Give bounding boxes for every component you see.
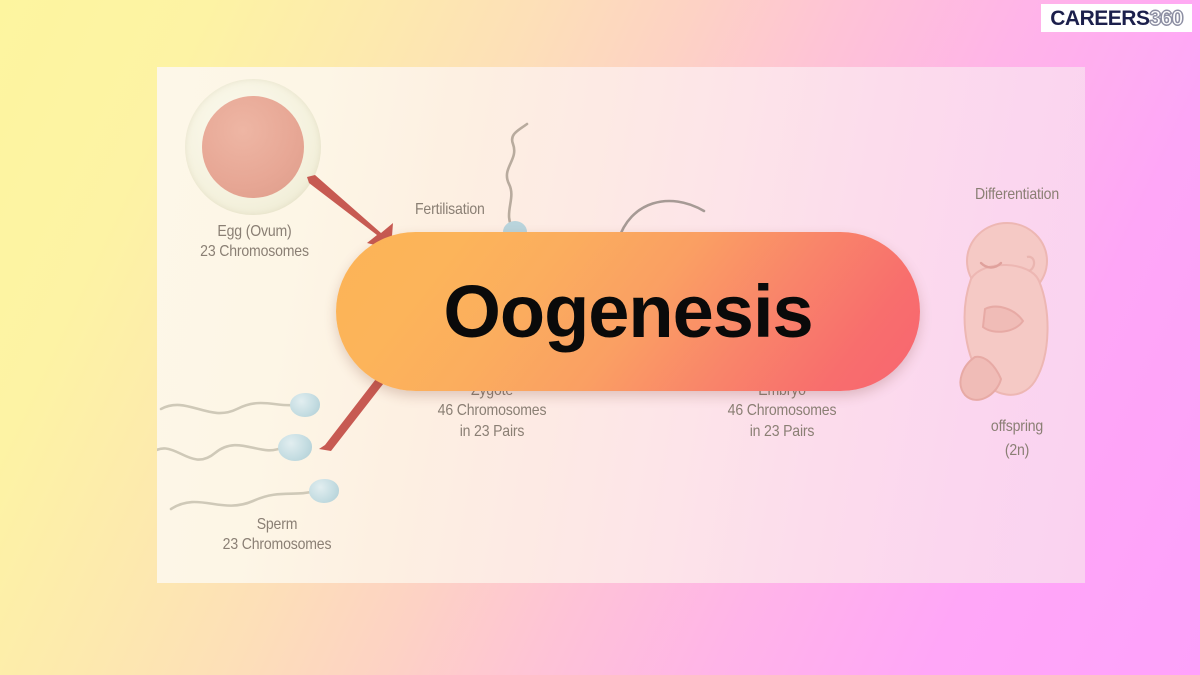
page-title: Oogenesis: [443, 275, 812, 349]
sperm-head: [290, 393, 320, 417]
differentiation-label: Differentiation: [920, 185, 1085, 205]
fetus-illustration: [935, 217, 1085, 417]
careers360-logo[interactable]: CAREERS 360: [1041, 4, 1192, 32]
fertilisation-label: Fertilisation: [415, 200, 521, 220]
logo-secondary-text: 360: [1149, 8, 1183, 29]
sperm-label: Sperm 23 Chromosomes: [193, 515, 360, 556]
sperm-head: [278, 434, 312, 461]
sperm-head: [309, 479, 339, 503]
logo-primary-text: CAREERS: [1050, 8, 1149, 29]
title-banner: Oogenesis: [336, 232, 920, 391]
ovum-inner-circle: [202, 96, 304, 198]
page-background: Egg (Ovum) 23 Chromosomes Sperm 23 Chrom…: [0, 0, 1200, 675]
ovum-illustration: [185, 79, 321, 215]
offspring-label: offspring (2n): [929, 415, 1085, 463]
